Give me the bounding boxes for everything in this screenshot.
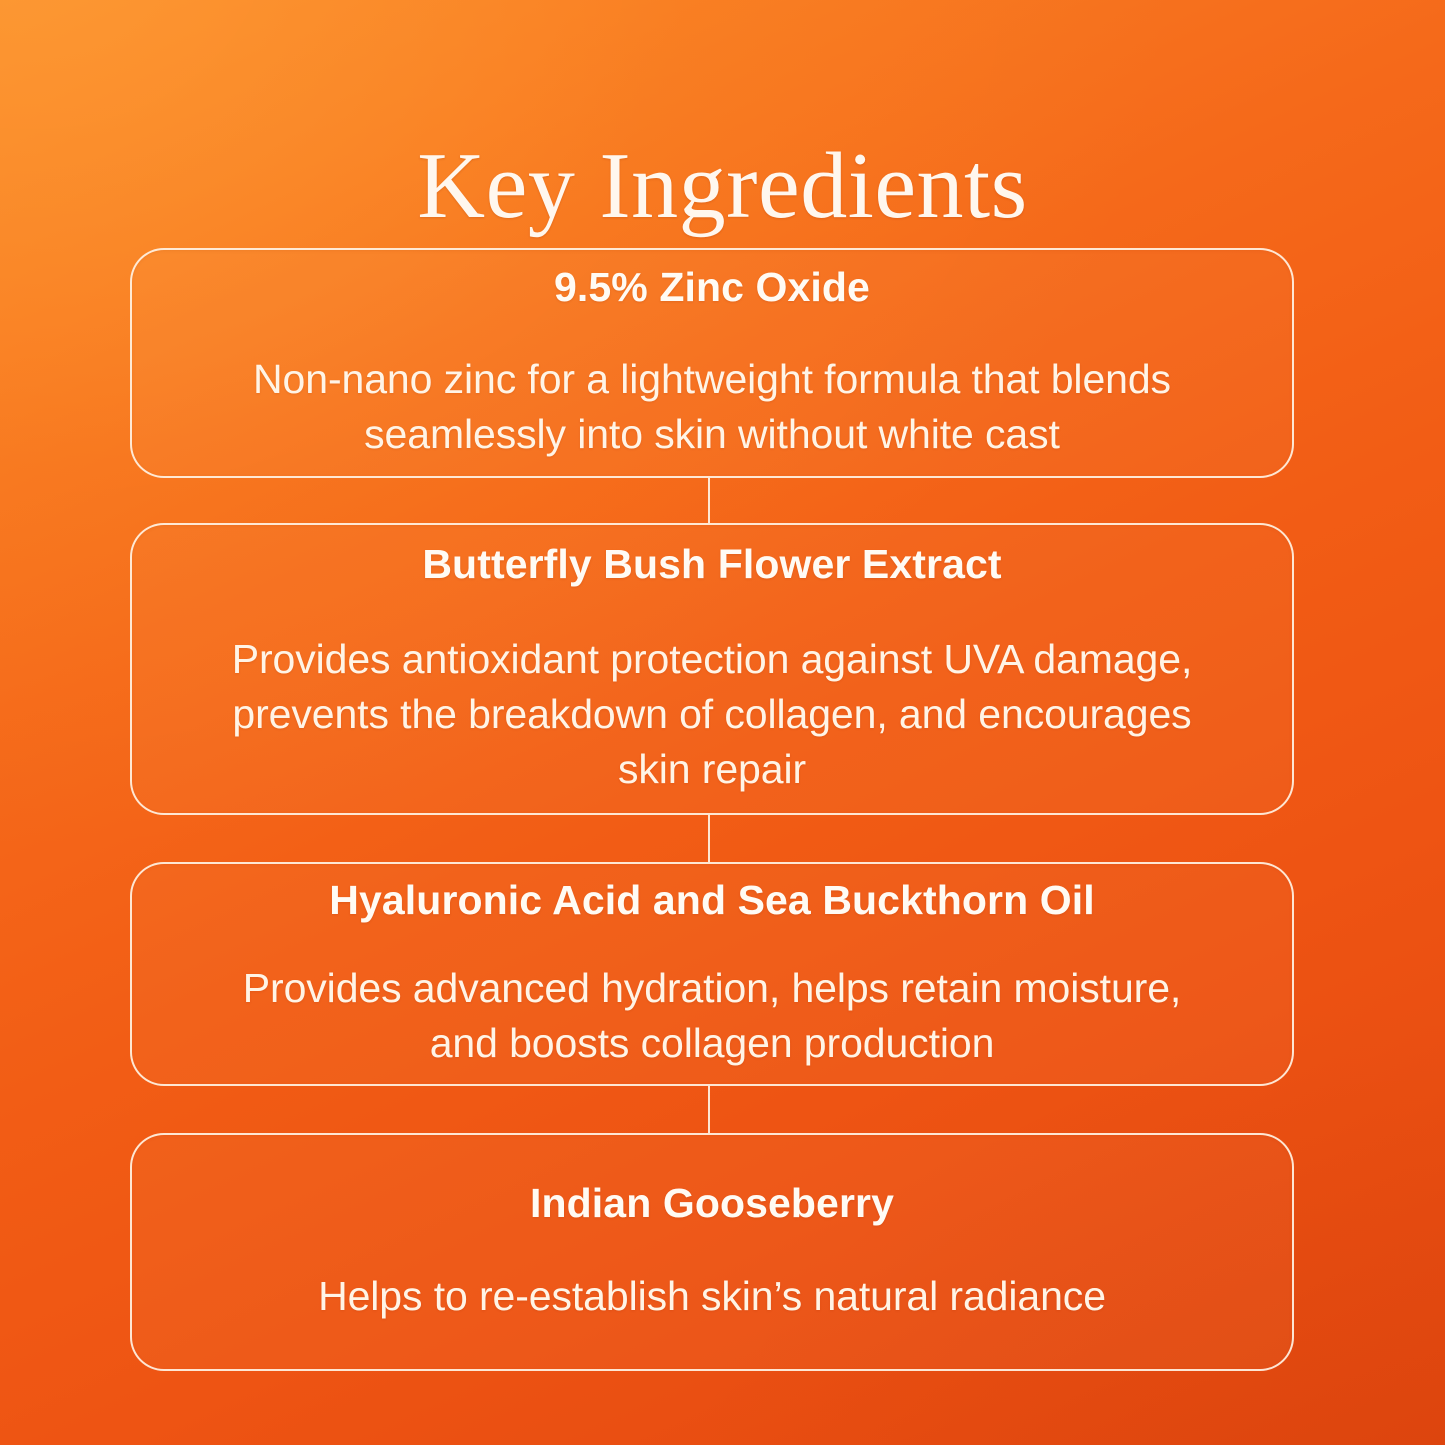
ingredient-card: Indian Gooseberry Helps to re-establish … — [130, 1133, 1294, 1371]
ingredient-title: Indian Gooseberry — [530, 1180, 894, 1227]
ingredient-description: Helps to re-establish skin’s natural rad… — [318, 1269, 1106, 1324]
ingredient-title: Butterfly Bush Flower Extract — [422, 541, 1001, 588]
ingredient-card: 9.5% Zinc Oxide Non-nano zinc for a ligh… — [130, 248, 1294, 478]
ingredient-title: Hyaluronic Acid and Sea Buckthorn Oil — [329, 877, 1094, 924]
page-title: Key Ingredients — [0, 139, 1445, 235]
ingredient-card: Butterfly Bush Flower Extract Provides a… — [130, 523, 1294, 815]
card-connector-line — [708, 1086, 710, 1133]
ingredient-description: Provides antioxidant protection against … — [207, 632, 1217, 797]
key-ingredients-infographic: Key Ingredients 9.5% Zinc Oxide Non-nano… — [0, 0, 1445, 1445]
ingredient-description: Non-nano zinc for a lightweight formula … — [207, 352, 1217, 462]
ingredient-card: Hyaluronic Acid and Sea Buckthorn Oil Pr… — [130, 862, 1294, 1086]
card-connector-line — [708, 478, 710, 523]
card-connector-line — [708, 815, 710, 862]
ingredient-title: 9.5% Zinc Oxide — [554, 264, 870, 311]
ingredient-description: Provides advanced hydration, helps retai… — [217, 961, 1207, 1071]
